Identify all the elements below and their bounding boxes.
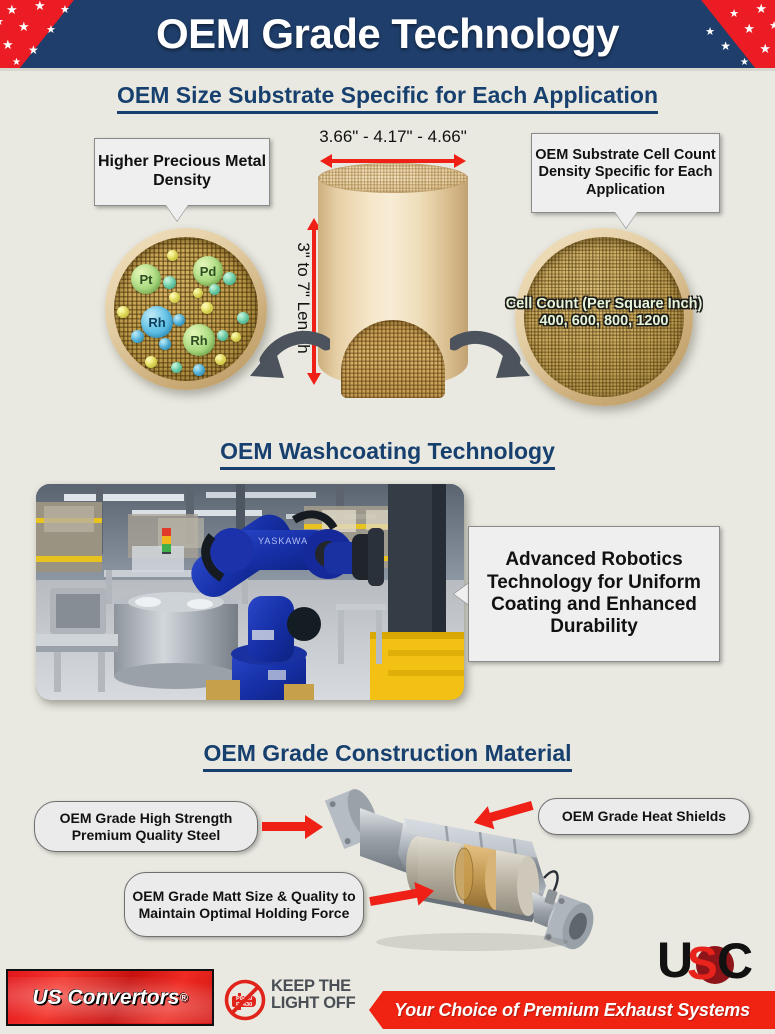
metal-particle: [201, 302, 213, 314]
svg-text:YASKAWA: YASKAWA: [258, 536, 308, 546]
metal-particle: [131, 330, 144, 343]
label-matt-size-quality: OEM Grade Matt Size & Quality to Maintai…: [124, 872, 364, 937]
keep-line-2: LIGHT OFF: [271, 995, 371, 1012]
callout-tail-metal: [166, 205, 188, 221]
callout-cell-count-density: OEM Substrate Cell Count Density Specifi…: [531, 133, 720, 213]
metal-particle: [217, 330, 228, 341]
section-title-substrate-text: OEM Size Substrate Specific for Each App…: [117, 82, 658, 114]
washcoating-robot-photo: YASKAWA: [36, 484, 464, 700]
callout-advanced-robotics: Advanced Robotics Technology for Uniform…: [468, 526, 720, 662]
us-convertors-wordmark: US Convertors®: [8, 971, 212, 1024]
usc-logo-c: C: [717, 935, 753, 987]
keep-the-light-off-badge: P0420 P0430 KEEP THE LIGHT OFF: [224, 975, 364, 1023]
metal-particle: [173, 314, 185, 326]
cell-count-title: Cell Count (Per Square Inch): [492, 296, 716, 313]
metal-particle: [159, 338, 171, 350]
keep-line-1: KEEP THE: [271, 978, 371, 995]
metal-particle: [145, 356, 157, 368]
arrow-steel: [262, 822, 306, 831]
callout-tail-robot: [454, 583, 469, 605]
keep-light-off-text: KEEP THE LIGHT OFF: [271, 978, 371, 1013]
cylinder-top-honeycomb: [318, 163, 468, 193]
tagline-banner: Your Choice of Premium Exhaust Systems: [369, 991, 775, 1029]
label-heat-shields: OEM Grade Heat Shields: [538, 798, 750, 835]
metal-particle: [171, 362, 182, 373]
metal-particle: [223, 272, 236, 285]
tagline-text: Your Choice of Premium Exhaust Systems: [394, 1000, 750, 1021]
cell-count-values: 400, 600, 800, 1200: [492, 313, 716, 330]
metal-sphere-pt: Pt: [131, 264, 161, 294]
metal-particle: [209, 284, 220, 295]
usc-logo-s: S: [687, 937, 718, 987]
brand-text: US Convertors: [32, 986, 179, 1010]
substrate-cylinder: [318, 163, 468, 398]
metal-sphere-rh-blue: Rh: [141, 306, 173, 338]
section-title-washcoating: OEM Washcoating Technology: [0, 438, 775, 465]
metal-particle: [193, 288, 203, 298]
dimension-width-label: 3.66" - 4.17" - 4.66": [293, 127, 493, 147]
callout-tail-cell: [615, 212, 637, 228]
metal-particle: [237, 312, 249, 324]
cell-count-overlay: Cell Count (Per Square Inch) 400, 600, 8…: [492, 296, 716, 330]
metal-sphere-rh-green: Rh: [183, 324, 215, 356]
metal-particle: [169, 292, 180, 303]
metal-particle: [167, 250, 178, 261]
infographic-page: ★ ★ ★ ★ ★ ★ ★ ★ ★ ★ ★ ★ ★ ★ ★ ★ ★ OEM Gr…: [0, 0, 775, 1034]
usc-logo: U S C: [657, 935, 765, 987]
metal-particle: [193, 364, 205, 376]
section-title-construction: OEM Grade Construction Material: [0, 740, 775, 767]
no-check-engine-light-icon: P0420 P0430: [224, 979, 266, 1021]
header-divider: [0, 68, 775, 71]
section-title-construction-text: OEM Grade Construction Material: [203, 740, 571, 772]
metal-particle: [231, 332, 241, 342]
metal-sphere-pd: Pd: [193, 256, 223, 286]
callout-higher-precious-metal-density: Higher Precious Metal Density: [94, 138, 270, 206]
page-title: OEM Grade Technology: [0, 0, 775, 68]
page-header: ★ ★ ★ ★ ★ ★ ★ ★ ★ ★ ★ ★ ★ ★ ★ ★ ★ OEM Gr…: [0, 0, 775, 68]
us-convertors-logo: US Convertors®: [6, 969, 214, 1026]
metal-particle: [163, 276, 176, 289]
precious-metal-disc: Pt Pd Rh Rh: [105, 228, 267, 390]
section-title-washcoating-text: OEM Washcoating Technology: [220, 438, 555, 470]
metal-particle: [117, 306, 129, 318]
registered-mark: ®: [179, 992, 187, 1004]
section-title-substrate: OEM Size Substrate Specific for Each App…: [0, 82, 775, 109]
metal-particle: [215, 354, 226, 365]
label-high-strength-steel: OEM Grade High Strength Premium Quality …: [34, 801, 258, 852]
